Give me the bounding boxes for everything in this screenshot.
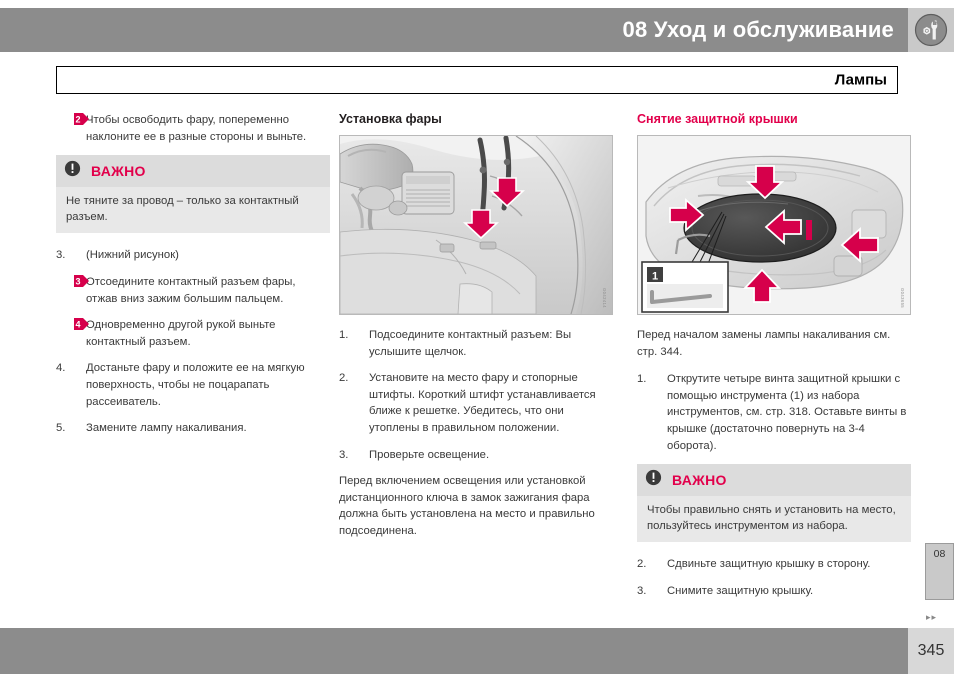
step-text: Одновременно другой рукой выньте контакт… xyxy=(86,319,275,348)
list-item-number: 2. xyxy=(637,556,659,573)
next-page-arrows-icon[interactable]: ▸▸ xyxy=(926,612,937,623)
section-label: Лампы xyxy=(835,72,887,89)
list-item-number: 3. xyxy=(637,583,659,600)
step-badge-icon: 2 xyxy=(74,113,89,125)
list-item-number: 1. xyxy=(637,371,659,388)
exclamation-circle-icon xyxy=(64,160,81,182)
svg-text:3: 3 xyxy=(75,276,80,286)
column-right-heading: Снятие защитной крышки xyxy=(637,112,911,127)
important-note-title: ВАЖНО xyxy=(672,472,727,488)
step-item: 3 Отсоедините контактный разъем фары, от… xyxy=(56,274,330,307)
page-number: 345 xyxy=(908,628,954,674)
list-item-text: Открутите четыре винта защитной крышки с… xyxy=(667,373,906,451)
column-left: 2 Чтобы освободить фару, попеременно нак… xyxy=(56,112,330,447)
list-item-text: Замените лампу накаливания. xyxy=(86,422,247,434)
list-item-text: Подсоедините контактный разъем: Вы услыш… xyxy=(369,329,571,358)
important-note-body: Не тяните за провод – только за контактн… xyxy=(56,187,330,225)
list-item-text: (Нижний рисунок) xyxy=(86,249,179,261)
list-item-number: 3. xyxy=(56,247,78,264)
step-text: Отсоедините контактный разъем фары, отжа… xyxy=(86,276,296,305)
column-middle: Установка фары xyxy=(339,112,613,551)
figure-code: G043655 xyxy=(900,288,905,308)
list-item: 3. (Нижний рисунок) xyxy=(56,247,330,264)
column-middle-heading: Установка фары xyxy=(339,112,613,127)
important-note-body: Чтобы правильно снять и установить на ме… xyxy=(637,496,911,534)
header-bar: 08 Уход и обслуживание xyxy=(0,8,908,52)
list-item-text: Проверьте освещение. xyxy=(369,449,489,461)
page-title: 08 Уход и обслуживание xyxy=(623,17,894,43)
list-item: 3. Снимите защитную крышку. xyxy=(637,583,911,600)
step-badge-icon: 3 xyxy=(74,275,89,287)
list-item: 2. Установите на место фару и стопорные … xyxy=(339,370,613,436)
footer-bar xyxy=(0,628,908,674)
important-note-header: ВАЖНО xyxy=(56,155,330,187)
svg-text:2: 2 xyxy=(75,114,80,124)
section-title-bar: Лампы xyxy=(56,66,898,94)
svg-text:1: 1 xyxy=(652,271,658,283)
closing-paragraph: Перед включением освещения или установко… xyxy=(339,473,613,539)
headlight-illustration: 1 xyxy=(638,136,910,314)
important-note-box: ВАЖНО Не тяните за провод – только за ко… xyxy=(56,155,330,233)
list-item-text: Установите на место фару и стопорные шти… xyxy=(369,372,596,434)
step-text: Чтобы освободить фару, попеременно накло… xyxy=(86,114,306,143)
list-item-number: 3. xyxy=(339,447,361,464)
step-item: 4 Одновременно другой рукой выньте конта… xyxy=(56,317,330,350)
list-item-text: Достаньте фару и положите ее на мягкую п… xyxy=(86,362,305,407)
list-item: 4. Достаньте фару и положите ее на мягку… xyxy=(56,360,330,410)
list-item: 1. Открутите четыре винта защитной крышк… xyxy=(637,371,911,454)
wrench-nut-icon xyxy=(914,13,948,47)
list-item-number: 2. xyxy=(339,370,361,387)
list-item-number: 5. xyxy=(56,420,78,437)
chapter-tab-label: 08 xyxy=(934,548,946,560)
list-item-text: Сдвиньте защитную крышку в сторону. xyxy=(667,558,870,570)
figure-code: G042414 xyxy=(602,288,607,308)
exclamation-circle-icon xyxy=(645,469,662,491)
step-badge-icon: 4 xyxy=(74,318,89,330)
svg-text:4: 4 xyxy=(75,319,80,329)
chapter-tab[interactable]: 08 xyxy=(925,543,954,600)
important-note-box: ВАЖНО Чтобы правильно снять и установить… xyxy=(637,464,911,542)
headlight-cover-diagram: 1 G043655 xyxy=(637,135,911,315)
important-note-title: ВАЖНО xyxy=(91,163,146,179)
step-item: 2 Чтобы освободить фару, попеременно нак… xyxy=(56,112,330,145)
list-item: 5. Замените лампу накаливания. xyxy=(56,420,330,437)
callout-inset: 1 xyxy=(642,262,728,312)
list-item-text: Снимите защитную крышку. xyxy=(667,585,813,597)
column-right: Снятие защитной крышки xyxy=(637,112,911,610)
engine-bay-headlight-photo: G042414 xyxy=(339,135,613,315)
list-item-number: 1. xyxy=(339,327,361,344)
list-item: 2. Сдвиньте защитную крышку в сторону. xyxy=(637,556,911,573)
list-item: 3. Проверьте освещение. xyxy=(339,447,613,464)
list-item-number: 4. xyxy=(56,360,78,377)
engine-bay-illustration xyxy=(340,136,612,314)
list-item: 1. Подсоедините контактный разъем: Вы ус… xyxy=(339,327,613,360)
intro-paragraph: Перед началом замены лампы накаливания с… xyxy=(637,327,911,360)
important-note-header: ВАЖНО xyxy=(637,464,911,496)
chapter-icon-container xyxy=(908,8,954,52)
